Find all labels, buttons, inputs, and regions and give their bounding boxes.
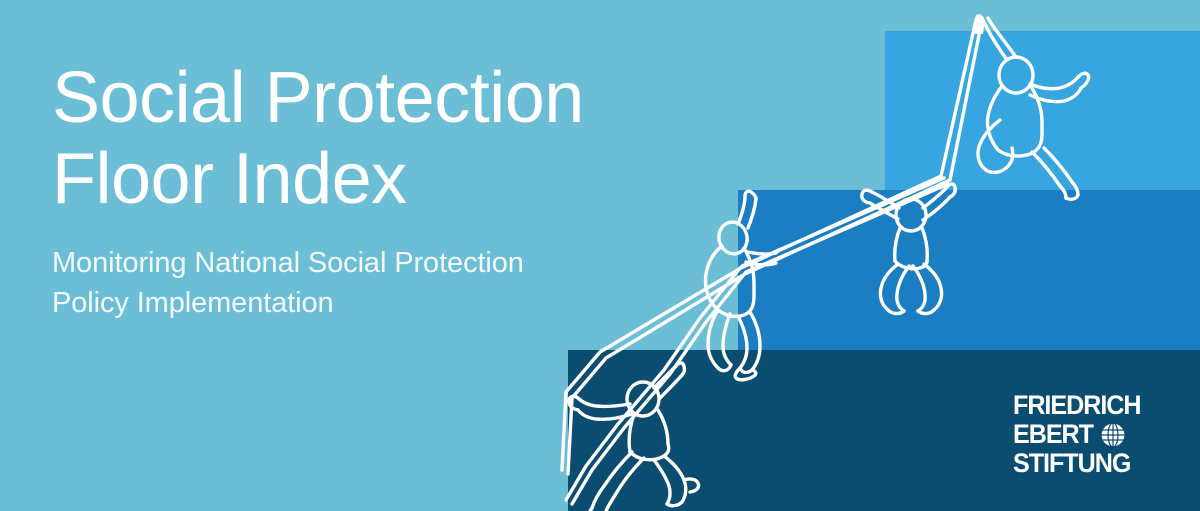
banner-text-block: Social Protection Floor Index Monitoring… xyxy=(52,58,692,323)
page-subtitle: Monitoring National Social Protection Po… xyxy=(52,243,692,323)
logo-line-stiftung: STIFTUNG xyxy=(1013,449,1154,478)
staircase-step-middle xyxy=(738,190,1200,350)
globe-icon xyxy=(1100,422,1126,448)
page-title: Social Protection Floor Index xyxy=(52,58,692,219)
social-protection-floor-index-banner: Social Protection Floor Index Monitoring… xyxy=(0,0,1200,511)
staircase-step-top xyxy=(885,31,1200,190)
logo-line-ebert: EBERT xyxy=(1013,420,1093,449)
friedrich-ebert-stiftung-logo: FRIEDRICH EBERT STIFTUNG xyxy=(1013,391,1165,479)
title-line-1: Social Protection xyxy=(52,58,584,138)
logo-line-ebert-row: EBERT xyxy=(1013,420,1165,449)
logo-line-friedrich: FRIEDRICH xyxy=(1013,391,1154,420)
subtitle-line-2: Policy Implementation xyxy=(52,287,334,319)
title-line-2: Floor Index xyxy=(52,139,407,219)
subtitle-line-1: Monitoring National Social Protection xyxy=(52,247,524,279)
